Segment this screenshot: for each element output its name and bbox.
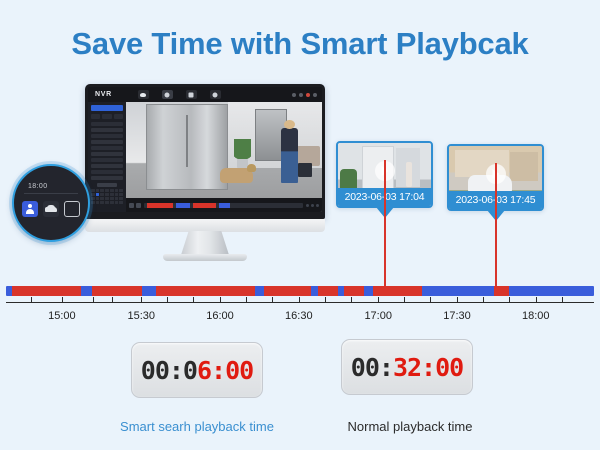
pause-icon[interactable]	[136, 203, 141, 208]
timeline-tick	[509, 297, 510, 303]
calendar-day[interactable]	[105, 193, 109, 196]
playback-icon[interactable]	[186, 90, 197, 99]
timeline-tick	[536, 297, 537, 303]
calendar-day[interactable]	[91, 201, 95, 204]
minimize-icon[interactable]	[292, 93, 296, 97]
snapshot-icon[interactable]	[311, 204, 314, 207]
normal-clock-digits: 00:32:00	[351, 353, 463, 382]
calendar-day[interactable]	[91, 193, 95, 196]
close-icon[interactable]	[306, 93, 310, 97]
scene-bag	[298, 163, 312, 177]
monitor: NVR	[85, 84, 325, 244]
maximize-icon[interactable]	[299, 93, 303, 97]
timeline[interactable]: 15:0015:3016:0016:3017:0017:3018:00	[6, 286, 594, 303]
calendar-day[interactable]	[119, 189, 123, 192]
list-item[interactable]	[91, 134, 123, 138]
timeline-tick	[351, 297, 352, 303]
fullscreen-icon[interactable]	[316, 204, 319, 207]
car-icon[interactable]	[43, 201, 59, 217]
timeline-tick	[378, 297, 379, 303]
timeline-tick	[483, 297, 484, 303]
timeline-tick	[220, 297, 221, 303]
list-item[interactable]	[91, 128, 123, 132]
list-item[interactable]	[91, 152, 123, 156]
calendar-day[interactable]	[115, 189, 119, 192]
smart-playback-caption: Smart searh playback time	[120, 419, 274, 434]
calendar-day[interactable]	[115, 201, 119, 204]
channel-list[interactable]	[91, 122, 123, 180]
timeline-connector	[384, 160, 386, 290]
calendar-day[interactable]	[105, 201, 109, 204]
smart-playback-clock: 00:06:00	[131, 342, 263, 398]
timeline-tick-label: 16:00	[206, 310, 234, 322]
calendar-header	[97, 183, 116, 187]
calendar-day[interactable]	[96, 201, 100, 204]
list-item[interactable]	[91, 176, 123, 180]
timeline-tick	[93, 297, 94, 303]
timeline-tick-label: 15:00	[48, 310, 76, 322]
timeline-recorded-segment[interactable]	[92, 286, 143, 296]
timeline-tick-label: 17:00	[364, 310, 392, 322]
smart-clock-digits: 00:06:00	[141, 356, 253, 385]
timeline-tick	[272, 297, 273, 303]
list-item[interactable]	[91, 140, 123, 144]
monitor-stand	[181, 231, 229, 255]
play-icon[interactable]	[129, 203, 134, 208]
sidebar-icon-row[interactable]	[91, 114, 123, 119]
timeline-tick	[299, 297, 300, 303]
list-item[interactable]	[91, 164, 123, 168]
calendar-day[interactable]	[110, 201, 114, 204]
grid-icon[interactable]	[91, 114, 100, 119]
filter-icon[interactable]	[114, 114, 123, 119]
calendar-day[interactable]	[110, 193, 114, 196]
calendar-day-selected[interactable]	[96, 193, 100, 196]
monitor-screen: NVR	[88, 87, 322, 212]
nvr-toolbar[interactable]	[138, 90, 221, 99]
calendar-grid[interactable]	[91, 189, 123, 204]
nvr-logo: NVR	[95, 91, 112, 98]
square-icon[interactable]	[64, 201, 80, 217]
calendar-day[interactable]	[100, 189, 104, 192]
calendar-day[interactable]	[110, 189, 114, 192]
scene-front-door	[146, 104, 228, 190]
page-title: Save Time with Smart Playbcak	[0, 26, 600, 62]
monitor-chin	[85, 219, 325, 232]
player-controls[interactable]	[126, 198, 322, 212]
timeline-recorded-segment[interactable]	[494, 286, 509, 296]
calendar-day[interactable]	[105, 197, 109, 200]
calendar-day[interactable]	[119, 197, 123, 200]
scene-person	[281, 128, 299, 183]
timeline-tick	[193, 297, 194, 303]
divider	[24, 193, 78, 194]
window-controls[interactable]	[292, 93, 317, 97]
calendar-day[interactable]	[96, 197, 100, 200]
list-item[interactable]	[91, 170, 123, 174]
list-item[interactable]	[91, 146, 123, 150]
timeline-tick	[404, 297, 405, 303]
normal-playback-caption: Normal playback time	[348, 419, 473, 434]
calendar-day[interactable]	[115, 193, 119, 196]
timeline-tick	[167, 297, 168, 303]
monitor-bezel: NVR	[85, 84, 325, 219]
calendar-day[interactable]	[110, 197, 114, 200]
timeline-tick-label: 16:30	[285, 310, 313, 322]
calendar-day[interactable]	[105, 189, 109, 192]
timeline-tick-label: 17:30	[443, 310, 471, 322]
timeline-tick	[31, 297, 32, 303]
camera-icon[interactable]	[162, 90, 173, 99]
timeline-tick-label: 15:30	[127, 310, 155, 322]
timeline-connector	[495, 163, 497, 290]
settings-icon[interactable]	[210, 90, 221, 99]
list-item[interactable]	[91, 122, 123, 126]
timeline-tick	[562, 297, 563, 303]
player-extra-controls[interactable]	[306, 204, 319, 207]
timeline-recorded-segment[interactable]	[373, 286, 422, 296]
timeline-bar[interactable]	[6, 286, 594, 296]
timeline-recorded-segment[interactable]	[156, 286, 255, 296]
scene-dog	[220, 168, 253, 183]
calendar-day[interactable]	[91, 189, 95, 192]
video-preview[interactable]	[126, 102, 322, 212]
nvr-titlebar: NVR	[88, 87, 322, 102]
timeline-recorded-segment[interactable]	[344, 286, 364, 296]
calendar-day[interactable]	[100, 197, 104, 200]
person-icon[interactable]	[22, 201, 38, 217]
monitor-base	[163, 254, 247, 261]
list-item[interactable]	[91, 158, 123, 162]
timeline-recorded-segment[interactable]	[12, 286, 81, 296]
timeline-tick	[141, 297, 142, 303]
nvr-sidebar[interactable]	[88, 102, 126, 212]
sidebar-primary-button[interactable]	[91, 105, 123, 111]
calendar-day[interactable]	[100, 201, 104, 204]
stop-icon[interactable]	[306, 204, 309, 207]
timeline-tick	[112, 297, 113, 303]
timeline-tick	[457, 297, 458, 303]
timeline-tick	[325, 297, 326, 303]
timeline-axis: 15:0015:3016:0016:3017:0017:3018:00	[6, 302, 594, 303]
timeline-tick	[246, 297, 247, 303]
calendar-day[interactable]	[119, 193, 123, 196]
smart-filter-group[interactable]	[14, 201, 88, 217]
calendar-day[interactable]	[91, 197, 95, 200]
timeline-tick	[430, 297, 431, 303]
magnifier-bubble: 18:00	[12, 164, 90, 242]
timeline-recorded-segment[interactable]	[264, 286, 311, 296]
calendar-day[interactable]	[119, 201, 123, 204]
calendar-day[interactable]	[96, 189, 100, 192]
cloud-icon[interactable]	[138, 90, 149, 99]
timeline-recorded-segment[interactable]	[318, 286, 339, 296]
timeline-tick	[62, 297, 63, 303]
player-progress-bar[interactable]	[144, 203, 303, 208]
calendar-day[interactable]	[100, 193, 104, 196]
normal-playback-clock: 00:32:00	[341, 339, 473, 395]
player-button-group[interactable]	[129, 203, 141, 208]
magnifier-time-label: 18:00	[28, 183, 88, 190]
timeline-tick-label: 18:00	[522, 310, 550, 322]
help-icon[interactable]	[313, 93, 317, 97]
calendar-day[interactable]	[115, 197, 119, 200]
list-icon[interactable]	[102, 114, 111, 119]
